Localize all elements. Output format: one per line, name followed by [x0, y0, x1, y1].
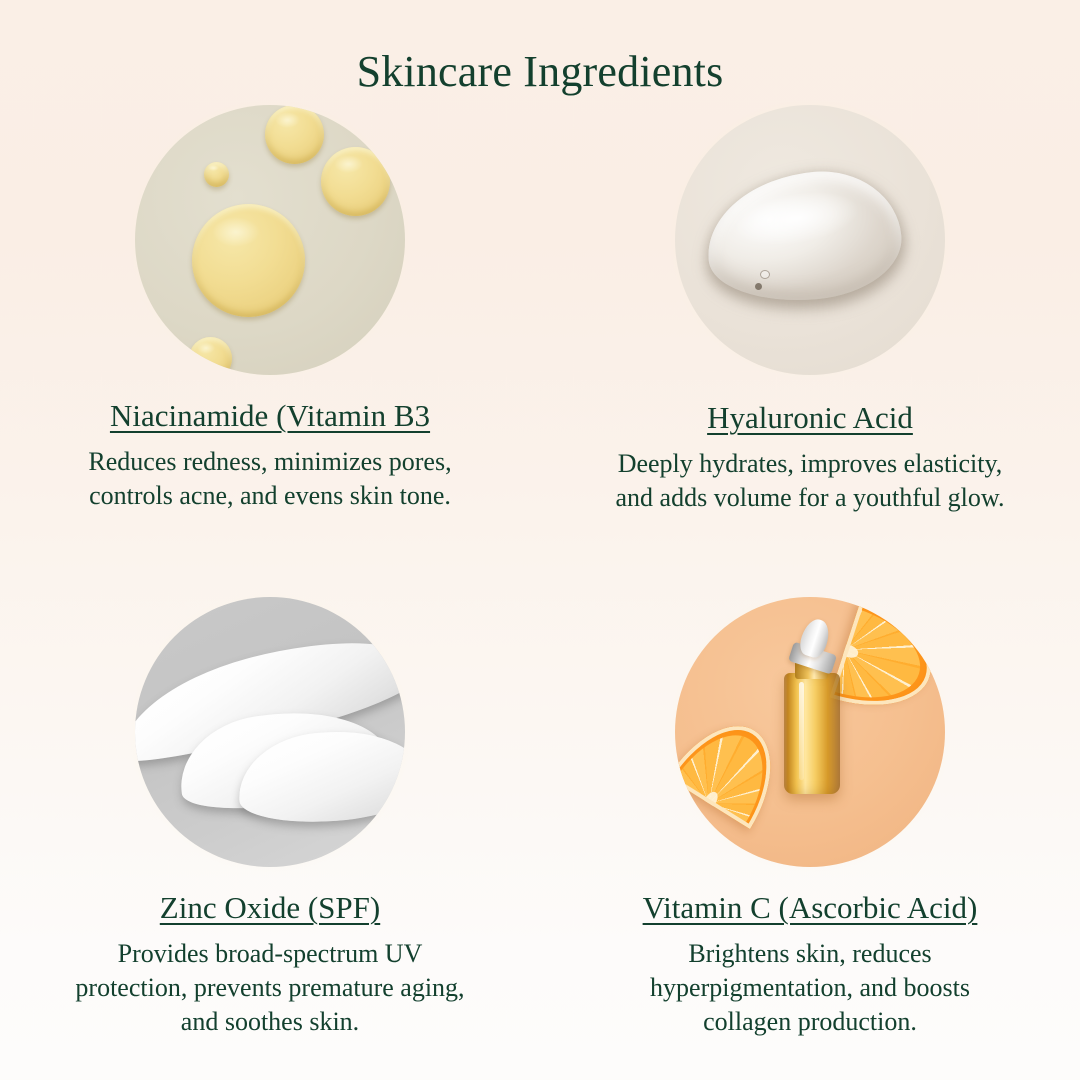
card-text: Niacinamide (Vitamin B3 Reduces redness,… — [0, 375, 540, 513]
infographic-page: Skincare Ingredients Niacinamide (Vitami… — [0, 0, 1080, 1080]
card-text: Zinc Oxide (SPF) Provides broad-spectrum… — [0, 867, 540, 1039]
ingredient-description: Brightens skin, reduces hyperpigmentatio… — [610, 937, 1010, 1039]
oil-droplet — [189, 337, 232, 375]
ingredient-title: Niacinamide (Vitamin B3 — [110, 397, 430, 435]
page-title: Skincare Ingredients — [0, 44, 1080, 100]
oil-droplet — [204, 162, 230, 188]
clear-gel-blob-photo — [675, 105, 945, 375]
ingredient-description: Deeply hydrates, improves elasticity, an… — [600, 447, 1020, 515]
white-cream-swatch-photo — [135, 597, 405, 867]
gel-bubble — [760, 270, 770, 279]
orange-slice — [675, 705, 796, 830]
thumbnail-wrapper — [135, 105, 405, 375]
ingredient-description: Provides broad-spectrum UV protection, p… — [61, 937, 479, 1039]
ingredient-description: Reduces redness, minimizes pores, contro… — [70, 445, 470, 513]
oil-droplet — [265, 105, 324, 164]
card-text: Vitamin C (Ascorbic Acid) Brightens skin… — [540, 867, 1080, 1039]
vitamin-c-serum-bottle-photo — [675, 597, 945, 867]
ingredient-title: Zinc Oxide (SPF) — [160, 889, 380, 927]
orange-slice — [829, 602, 945, 725]
ingredient-card-niacinamide: Niacinamide (Vitamin B3 Reduces redness,… — [0, 104, 540, 596]
thumbnail-wrapper — [135, 597, 405, 867]
ingredient-card-vitamin-c: Vitamin C (Ascorbic Acid) Brightens skin… — [540, 596, 1080, 1080]
oil-droplet — [321, 147, 390, 216]
gel-bubble — [755, 283, 762, 290]
ingredient-title: Vitamin C (Ascorbic Acid) — [643, 889, 978, 927]
ingredient-grid: Niacinamide (Vitamin B3 Reduces redness,… — [0, 104, 1080, 1080]
ingredient-title: Hyaluronic Acid — [707, 399, 913, 437]
thumbnail-wrapper — [675, 597, 945, 867]
ingredient-card-zinc-oxide: Zinc Oxide (SPF) Provides broad-spectrum… — [0, 596, 540, 1080]
oil-droplets-photo — [135, 105, 405, 375]
serum-bottle — [784, 673, 839, 795]
ingredient-card-hyaluronic-acid: Hyaluronic Acid Deeply hydrates, improve… — [540, 104, 1080, 596]
oil-droplet — [192, 204, 305, 317]
card-text: Hyaluronic Acid Deeply hydrates, improve… — [540, 375, 1080, 515]
thumbnail-wrapper — [675, 105, 945, 375]
